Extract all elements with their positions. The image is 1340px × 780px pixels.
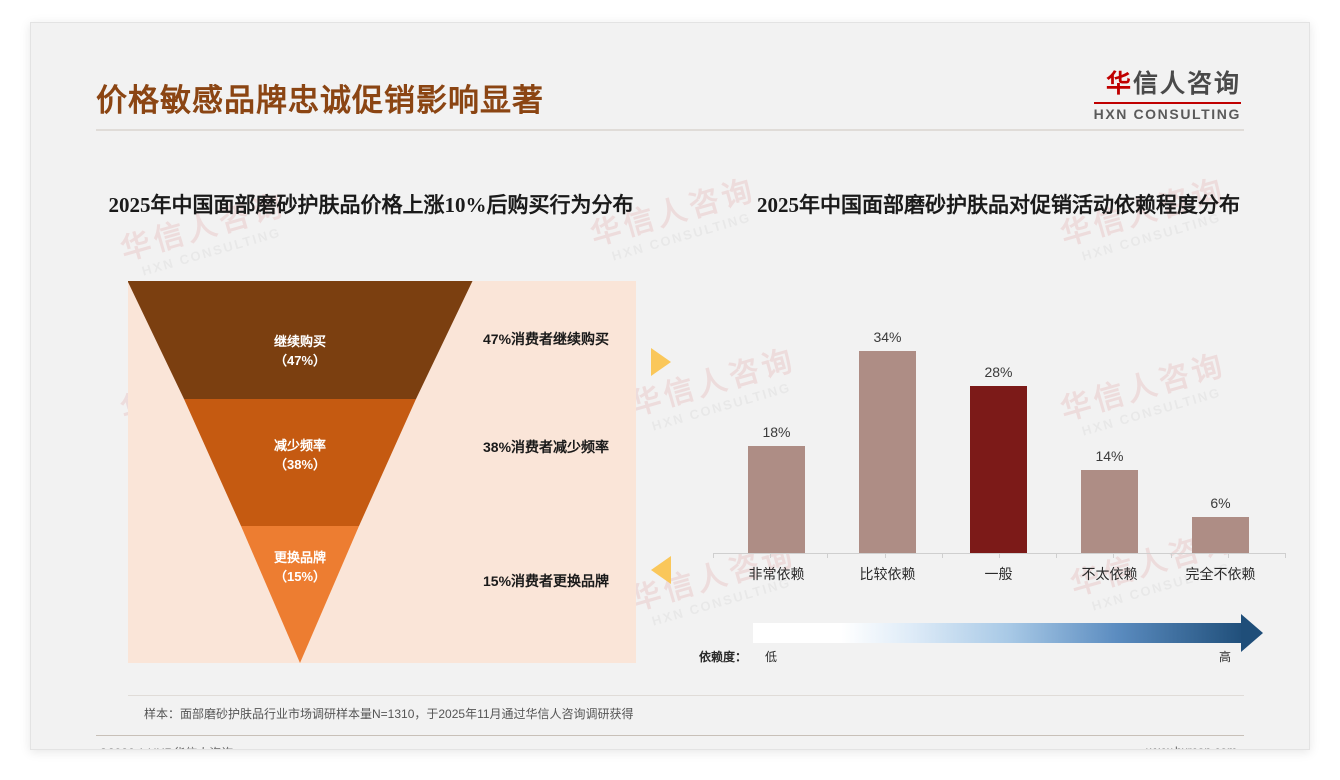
bar-chart: 18%34%28%14%6% 非常依赖比较依赖一般不太依赖完全不依赖 [699, 281, 1299, 601]
dependency-gradient-legend: 依赖度： 低 高 [699, 615, 1299, 677]
bar-column[interactable]: 28% [943, 281, 1054, 553]
axis-tick [1056, 553, 1057, 558]
bar-value-label: 14% [1095, 448, 1123, 464]
bar-rect[interactable] [859, 351, 916, 553]
right-chart-title: 2025年中国面部磨砂护肤品对促销活动依赖程度分布 [686, 191, 1310, 219]
footer-copyright: ©2026.1 HXR华信人咨询 [99, 744, 233, 750]
axis-tick [885, 553, 886, 558]
page-title: 价格敏感品牌忠诚促销影响显著 [96, 75, 544, 120]
funnel-callout-text: 47%消费者继续购买 [483, 329, 609, 349]
axis-tick [1171, 553, 1172, 558]
funnel-segment-label-line: 更换品牌 [128, 549, 472, 568]
axis-tick [713, 553, 714, 558]
axis-tick [827, 553, 828, 558]
funnel-segment-label-line: 减少频率 [128, 437, 472, 456]
legend-high-label: 高 [1219, 648, 1231, 665]
logo-rest-chars: 信人咨询 [1133, 70, 1241, 98]
triangle-left-icon [651, 556, 671, 584]
axis-tick [1228, 553, 1229, 558]
left-chart-title: 2025年中国面部磨砂护肤品价格上涨10%后购买行为分布 [71, 191, 671, 219]
source-divider [128, 695, 1244, 696]
bar-category-label: 不太依赖 [1054, 564, 1165, 584]
gradient-arrow-icon [1241, 614, 1263, 652]
footer-website: www.hxrcon.com [1146, 744, 1237, 750]
funnel-callout-text: 38%消费者减少频率 [483, 437, 609, 457]
bar-column[interactable]: 6% [1165, 281, 1276, 553]
gradient-bar [753, 623, 1245, 643]
logo-underline [1094, 102, 1241, 104]
bar-category-label: 比较依赖 [832, 564, 943, 584]
source-note: 样本：面部磨砂护肤品行业市场调研样本量N=1310，于2025年11月通过华信人… [144, 705, 634, 722]
bar-chart-plot-area: 18%34%28%14%6% [721, 281, 1277, 553]
bar-column[interactable]: 18% [721, 281, 832, 553]
bar-value-label: 18% [762, 424, 790, 440]
bar-rect[interactable] [1081, 470, 1138, 553]
funnel-callout-text: 15%消费者更换品牌 [483, 571, 609, 591]
bar-category-label: 非常依赖 [721, 564, 832, 584]
funnel-segment-label: 更换品牌（15%） [128, 549, 472, 587]
logo-accent-char: 华 [1106, 70, 1133, 98]
header-divider [96, 129, 1244, 131]
slide-canvas: 华信人咨询HXN CONSULTING 华信人咨询HXN CONSULTING … [30, 22, 1310, 750]
bar-value-label: 34% [873, 329, 901, 345]
company-logo: 华信人咨询 HXN CONSULTING [1094, 71, 1241, 122]
axis-tick [1285, 553, 1286, 558]
bar-rect[interactable] [1192, 517, 1249, 553]
slide-header: 价格敏感品牌忠诚促销影响显著 华信人咨询 HXN CONSULTING [31, 23, 1309, 131]
funnel-chart: 继续购买（47%）减少频率（38%）更换品牌（15%） 47%消费者继续购买38… [128, 281, 636, 663]
bar-rect[interactable] [748, 446, 805, 553]
triangle-right-icon [651, 348, 671, 376]
legend-title: 依赖度： [699, 648, 747, 665]
axis-tick [1113, 553, 1114, 558]
funnel-segment-label: 继续购买（47%） [128, 333, 472, 371]
logo-english-text: HXN CONSULTING [1094, 106, 1241, 122]
funnel-segment [241, 526, 359, 663]
footer-divider [96, 735, 1244, 736]
logo-chinese-text: 华信人咨询 [1094, 71, 1241, 99]
bar-column[interactable]: 34% [832, 281, 943, 553]
bar-value-label: 28% [984, 364, 1012, 380]
watermark-en: HXN CONSULTING [140, 221, 294, 278]
bar-chart-category-labels: 非常依赖比较依赖一般不太依赖完全不依赖 [721, 564, 1277, 588]
axis-tick [770, 553, 771, 558]
funnel-segment-label: 减少频率（38%） [128, 437, 472, 475]
axis-tick [999, 553, 1000, 558]
legend-low-label: 低 [765, 648, 777, 665]
funnel-segment-label-line: （38%） [128, 456, 472, 475]
bar-column[interactable]: 14% [1054, 281, 1165, 553]
funnel-segment-label-line: （15%） [128, 568, 472, 587]
bar-value-label: 6% [1210, 495, 1230, 511]
bar-rect[interactable] [970, 386, 1027, 553]
bar-category-label: 一般 [943, 564, 1054, 584]
axis-tick [942, 553, 943, 558]
bar-category-label: 完全不依赖 [1165, 564, 1276, 584]
funnel-segment-label-line: 继续购买 [128, 333, 472, 352]
funnel-segment-label-line: （47%） [128, 352, 472, 371]
